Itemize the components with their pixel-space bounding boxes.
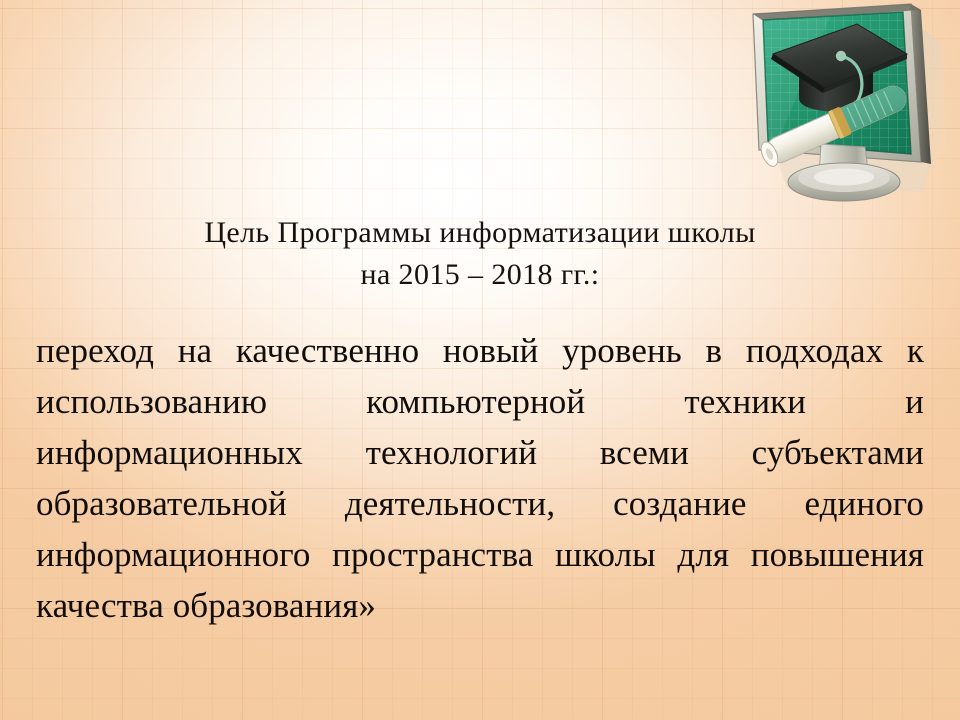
presentation-slide: Цель Программы информатизации школы на 2… [0, 0, 960, 720]
slide-title-line-2: на 2015 – 2018 гг.: [0, 254, 960, 296]
slide-body: переход на качественно новый уровень в п… [36, 325, 924, 631]
slide-title-line-1: Цель Программы информатизации школы [0, 212, 960, 254]
computer-monitor-graduation-image [735, 2, 957, 208]
slide-title: Цель Программы информатизации школы на 2… [0, 212, 960, 296]
slide-body-paragraph: переход на качественно новый уровень в п… [36, 325, 924, 631]
